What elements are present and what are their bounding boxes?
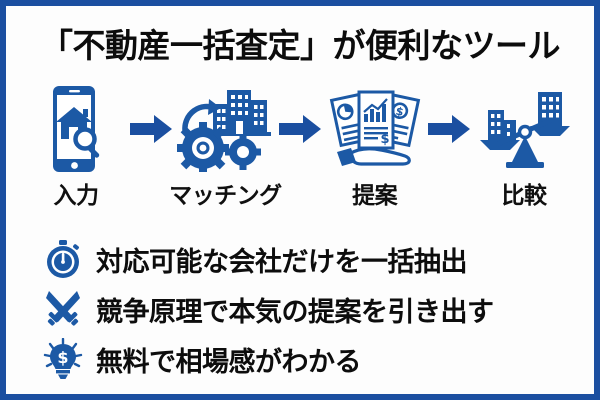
arrow-right-icon (427, 84, 471, 174)
step-proposal: $ (323, 84, 427, 210)
step-comparison: 比較 (472, 84, 576, 210)
list-item: 対応可能な会社だけを一括抽出 (40, 234, 580, 284)
arrow-right-icon (278, 84, 322, 174)
svg-text:$: $ (380, 132, 389, 147)
list-item-label: 無料で相場感がわかる (96, 340, 361, 379)
step-label: 入力 (54, 176, 99, 210)
list-item: 競争原理で本気の提案を引き出す (40, 284, 580, 334)
list-item: $ 無料で相場感がわかる (40, 334, 580, 384)
list-item-label: 対応可能な会社だけを一括抽出 (96, 240, 467, 279)
benefit-list: 対応可能な会社だけを一括抽出 競争原理で本気の提案 (40, 234, 580, 384)
page-title: 「不動産一括査定」が便利なツール (6, 26, 594, 66)
step-label: マッチング (169, 176, 282, 210)
svg-text:$: $ (57, 348, 68, 367)
crossed-swords-icon (40, 286, 86, 332)
infographic-card: 「不動産一括査定」が便利なツール (0, 0, 600, 400)
step-matching: マッチング (173, 84, 277, 210)
balance-scale-buildings-icon (474, 84, 574, 174)
hand-documents-icon: $ (327, 84, 423, 174)
list-item-label: 競争原理で本気の提案を引き出す (96, 290, 494, 329)
gears-buildings-icon (175, 84, 275, 174)
arrow-right-icon (129, 84, 173, 174)
lightbulb-dollar-icon: $ (40, 336, 86, 382)
step-label: 比較 (501, 176, 546, 210)
stopwatch-icon (40, 236, 86, 282)
step-flow: 入力 (12, 84, 588, 219)
step-label: 提案 (352, 176, 397, 210)
step-input: 入力 (24, 84, 128, 210)
smartphone-house-search-icon (45, 84, 107, 174)
